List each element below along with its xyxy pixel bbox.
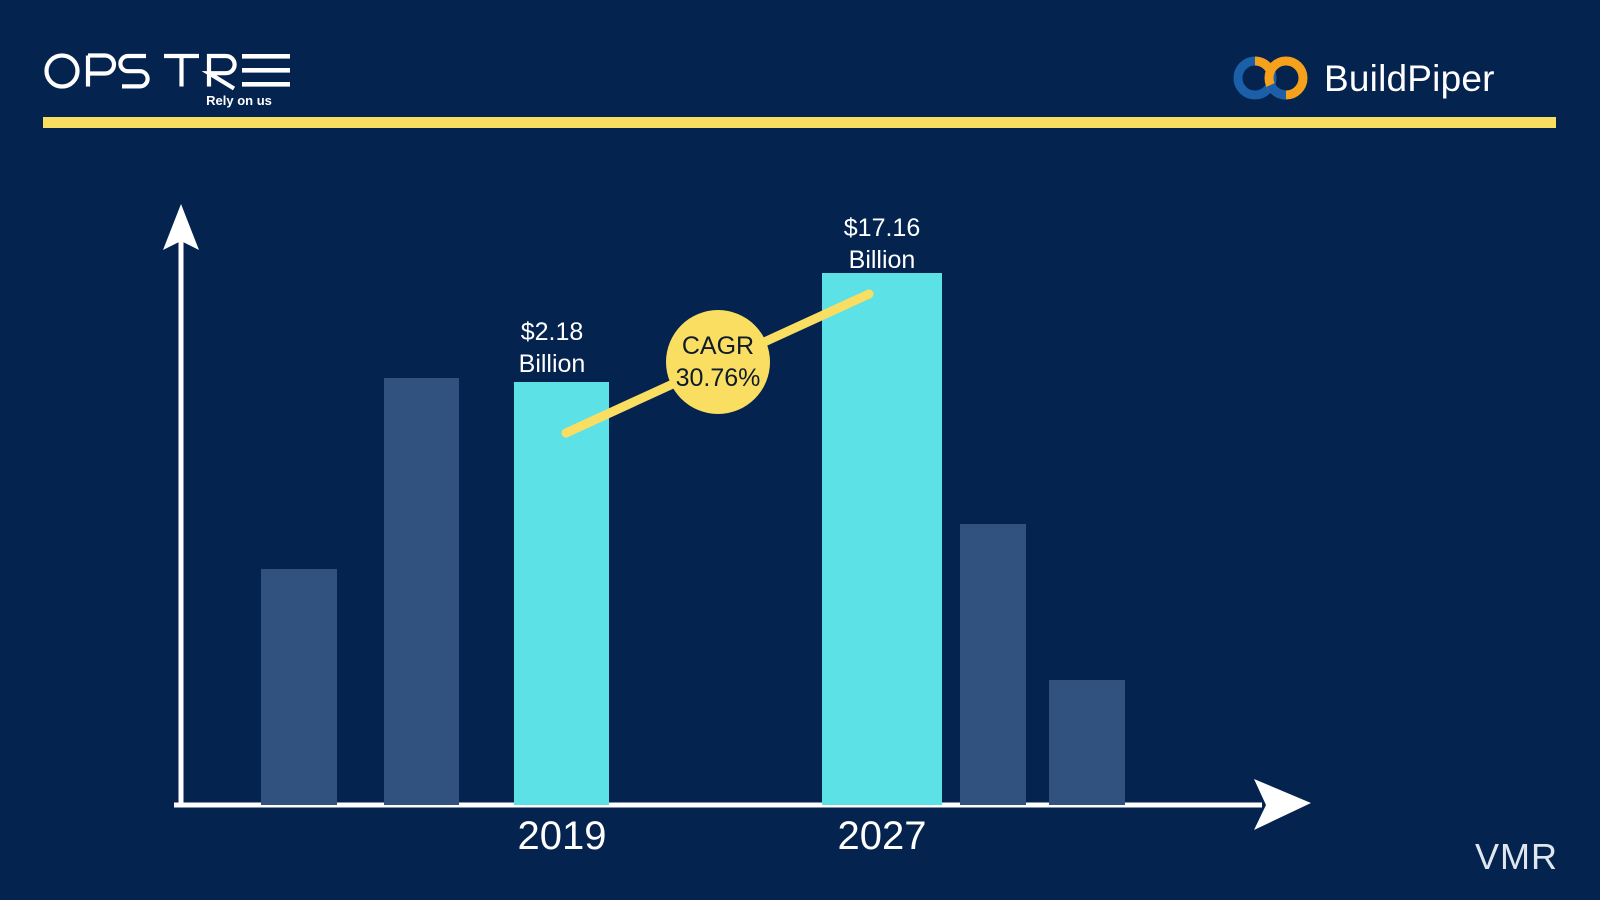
bar-2019	[514, 382, 609, 805]
bar-chart	[0, 0, 1600, 900]
bar-label-2019: $2.18 Billion	[462, 316, 642, 380]
bar-label-2027-value: $17.16	[792, 212, 972, 244]
bar-label-2027: $17.16 Billion	[792, 212, 972, 276]
bar-4	[960, 524, 1026, 805]
bar-0	[261, 569, 337, 805]
slide-canvas: Rely on us BuildPiper	[0, 0, 1600, 900]
cagr-badge-value: 30.76%	[676, 362, 761, 395]
bar-2027	[822, 273, 942, 805]
cagr-badge-title: CAGR	[682, 330, 754, 363]
bar-1	[384, 378, 459, 805]
cagr-badge: CAGR 30.76%	[666, 310, 770, 414]
bar-label-2019-unit: Billion	[462, 348, 642, 380]
source-watermark: VMR	[1475, 836, 1558, 878]
x-axis-arrowhead	[1254, 779, 1311, 830]
x-tick-label-2027: 2027	[792, 814, 972, 859]
bar-5	[1049, 680, 1125, 805]
bar-label-2019-value: $2.18	[462, 316, 642, 348]
x-tick-label-2019: 2019	[472, 814, 652, 859]
bar-label-2027-unit: Billion	[792, 244, 972, 276]
